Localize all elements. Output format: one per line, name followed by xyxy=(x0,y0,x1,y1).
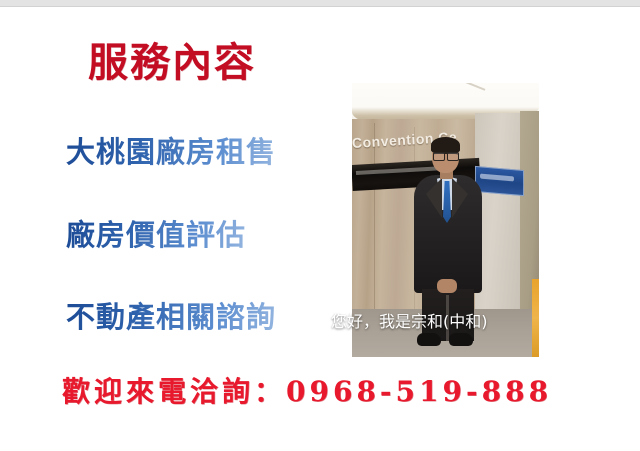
photo-person-glasses-left-lens xyxy=(433,152,445,161)
top-gray-strip-edge xyxy=(0,6,640,7)
photo-person-shoe-right xyxy=(449,333,473,346)
service-item-3: 不動產相關諮詢 xyxy=(66,294,276,336)
photo-blue-sign-plate xyxy=(475,166,524,196)
photo-person-shoe-left xyxy=(417,333,441,346)
photo-person-hands xyxy=(437,279,457,293)
photo-person-hair xyxy=(431,137,460,153)
photo-caption: 您好，我是宗和(中和) xyxy=(331,308,488,332)
service-item-1: 大桃園廠房租售 xyxy=(66,129,276,171)
contact-phone-line: 歡迎來電洽詢：0968-519-888 xyxy=(62,370,552,410)
page-title: 服務內容 xyxy=(88,30,256,88)
presentation-slide: 服務內容 大桃園廠房租售 廠房價值評估 不動產相關諮詢 歡迎來電洽詢：0968-… xyxy=(0,0,640,451)
photo-yellow-edge-strip xyxy=(532,279,539,357)
photo-person-glasses-right-lens xyxy=(447,152,459,161)
service-item-2: 廠房價值評估 xyxy=(66,212,246,254)
